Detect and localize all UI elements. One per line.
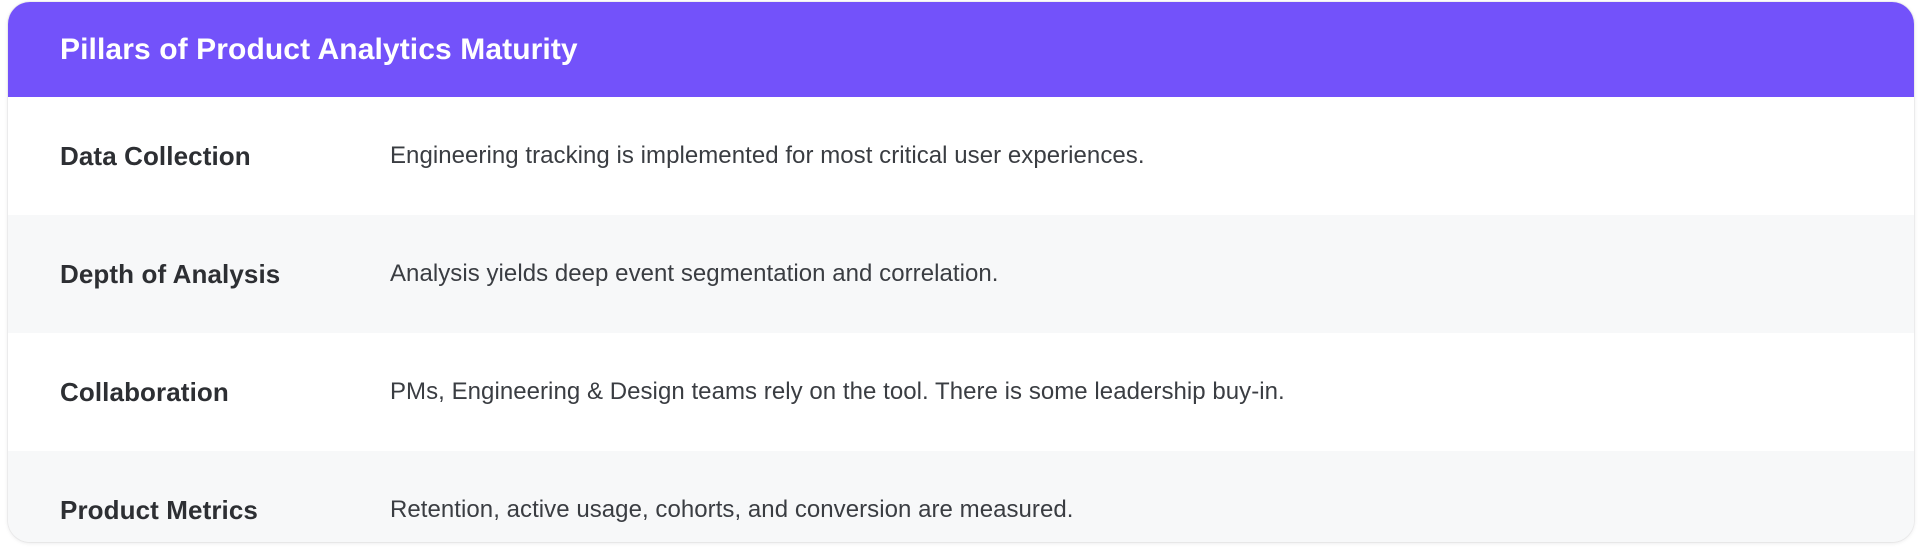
pillar-label-depth-of-analysis: Depth of Analysis bbox=[60, 259, 390, 290]
list-item: Depth of Analysis Analysis yields deep e… bbox=[8, 215, 1914, 333]
maturity-pillars-card: Pillars of Product Analytics Maturity Da… bbox=[8, 2, 1914, 542]
pillar-label-collaboration: Collaboration bbox=[60, 377, 390, 408]
list-item: Product Metrics Retention, active usage,… bbox=[8, 451, 1914, 542]
card-header: Pillars of Product Analytics Maturity bbox=[8, 2, 1914, 97]
pillar-description-depth-of-analysis: Analysis yields deep event segmentation … bbox=[390, 260, 1862, 288]
pillar-description-collaboration: PMs, Engineering & Design teams rely on … bbox=[390, 378, 1862, 406]
page-title: Pillars of Product Analytics Maturity bbox=[60, 35, 578, 65]
pillar-description-data-collection: Engineering tracking is implemented for … bbox=[390, 142, 1862, 170]
pillar-label-product-metrics: Product Metrics bbox=[60, 495, 390, 526]
pillars-list: Data Collection Engineering tracking is … bbox=[8, 97, 1914, 542]
pillar-label-data-collection: Data Collection bbox=[60, 141, 390, 172]
pillar-description-product-metrics: Retention, active usage, cohorts, and co… bbox=[390, 496, 1862, 524]
list-item: Data Collection Engineering tracking is … bbox=[8, 97, 1914, 215]
list-item: Collaboration PMs, Engineering & Design … bbox=[8, 333, 1914, 451]
page-root: Pillars of Product Analytics Maturity Da… bbox=[0, 0, 1932, 550]
